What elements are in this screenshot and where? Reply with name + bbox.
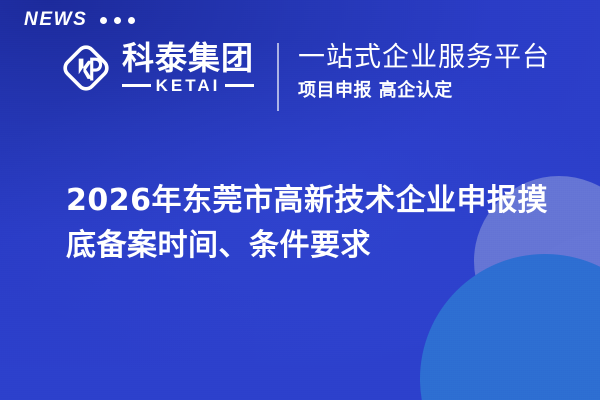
news-eyebrow-dots-icon [100, 17, 135, 24]
ketai-kp-diamond-mark-icon [60, 42, 112, 94]
lockup-divider [277, 43, 279, 111]
dot-icon [128, 17, 135, 24]
news-banner: NEWS 科泰集团 KETAI [0, 0, 600, 400]
brand-rule-left [122, 84, 151, 87]
slogan-block: 一站式企业服务平台 项目申报 高企认定 [298, 42, 550, 101]
brand-lockup: 科泰集团 KETAI [60, 42, 254, 94]
dot-icon [114, 17, 121, 24]
slogan-main: 一站式企业服务平台 [298, 42, 550, 74]
dot-icon [100, 17, 107, 24]
brand-name-cn: 科泰集团 [122, 42, 254, 76]
headline: 2026年东莞市高新技术企业申报摸底备案时间、条件要求 [66, 178, 578, 268]
brand-rule-right [225, 84, 254, 87]
brand-text-block: 科泰集团 KETAI [122, 42, 254, 94]
brand-name-en-row: KETAI [122, 77, 254, 94]
slogan-sub: 项目申报 高企认定 [298, 80, 550, 102]
brand-name-en: KETAI [156, 77, 221, 94]
news-eyebrow-label: NEWS [24, 10, 87, 29]
news-eyebrow: NEWS [24, 10, 135, 29]
